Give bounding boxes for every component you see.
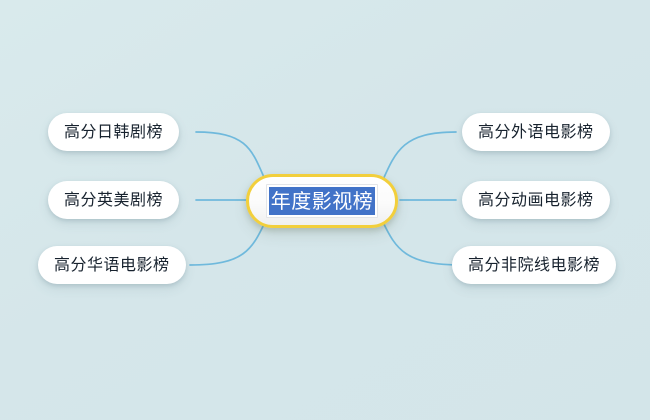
branch-node-label: 高分英美剧榜	[64, 192, 163, 208]
root-node-text-editor[interactable]: 年度影视榜	[266, 184, 379, 218]
branch-node-left-3[interactable]: 高分华语电影榜	[38, 246, 186, 284]
root-node[interactable]: 年度影视榜	[246, 174, 398, 228]
branch-node-right-3[interactable]: 高分非院线电影榜	[452, 246, 616, 284]
branch-node-right-2[interactable]: 高分动画电影榜	[462, 181, 610, 219]
connector-right-bottom	[382, 220, 462, 265]
branch-node-label: 高分动画电影榜	[478, 192, 594, 208]
connector-left-top	[196, 132, 266, 182]
branch-node-label: 高分非院线电影榜	[468, 257, 600, 273]
branch-node-label: 高分日韩剧榜	[64, 124, 163, 140]
branch-node-right-1[interactable]: 高分外语电影榜	[462, 113, 610, 151]
branch-node-label: 高分外语电影榜	[478, 124, 594, 140]
root-node-label[interactable]: 年度影视榜	[269, 187, 376, 215]
mindmap-canvas[interactable]: 高分日韩剧榜 高分英美剧榜 高分华语电影榜 高分外语电影榜 高分动画电影榜 高分…	[0, 0, 650, 420]
connector-right-top	[382, 132, 456, 182]
connector-left-bottom	[190, 220, 266, 265]
branch-node-left-1[interactable]: 高分日韩剧榜	[48, 113, 179, 151]
branch-node-label: 高分华语电影榜	[54, 257, 170, 273]
branch-node-left-2[interactable]: 高分英美剧榜	[48, 181, 179, 219]
